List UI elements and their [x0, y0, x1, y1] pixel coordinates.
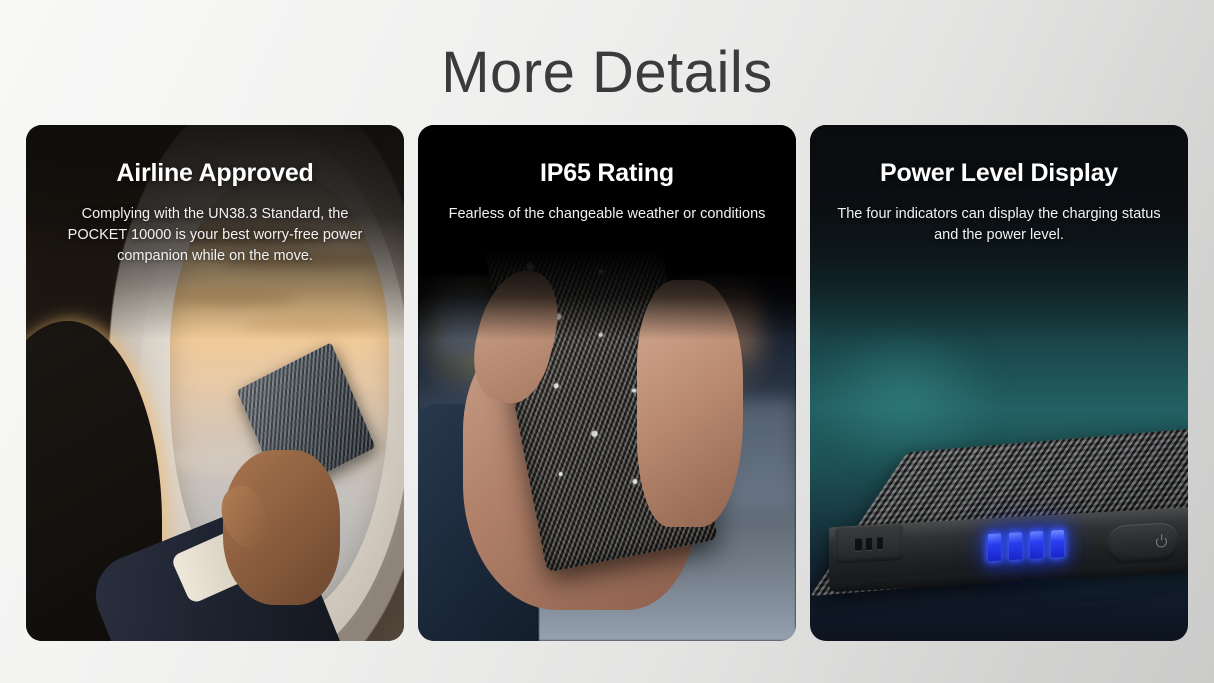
led-indicator-group — [988, 527, 1064, 562]
led-indicator — [1029, 530, 1042, 558]
power-icon — [1156, 537, 1167, 549]
page-title: More Details — [0, 44, 1214, 102]
power-button — [1107, 522, 1179, 564]
fingers — [637, 280, 743, 528]
usb-port — [835, 524, 903, 565]
card-text-block: Airline Approved Complying with the UN38… — [26, 125, 404, 267]
led-indicator — [988, 533, 1001, 561]
card-text-block: IP65 Rating Fearless of the changeable w… — [418, 125, 796, 225]
detail-card-airline-approved[interactable]: Airline Approved Complying with the UN38… — [26, 125, 404, 641]
details-card-grid: Airline Approved Complying with the UN38… — [26, 125, 1188, 641]
led-indicator — [1050, 529, 1063, 557]
led-indicator — [1009, 532, 1022, 560]
card-title: IP65 Rating — [444, 159, 770, 188]
card-title: Airline Approved — [52, 159, 378, 188]
card-title: Power Level Display — [836, 159, 1162, 188]
card-subtitle: The four indicators can display the char… — [836, 204, 1162, 246]
card-text-block: Power Level Display The four indicators … — [810, 125, 1188, 246]
card-subtitle: Complying with the UN38.3 Standard, the … — [52, 204, 378, 267]
card-subtitle: Fearless of the changeable weather or co… — [444, 204, 770, 225]
detail-card-ip65-rating[interactable]: IP65 Rating Fearless of the changeable w… — [418, 125, 796, 641]
detail-card-power-level-display[interactable]: Power Level Display The four indicators … — [810, 125, 1188, 641]
